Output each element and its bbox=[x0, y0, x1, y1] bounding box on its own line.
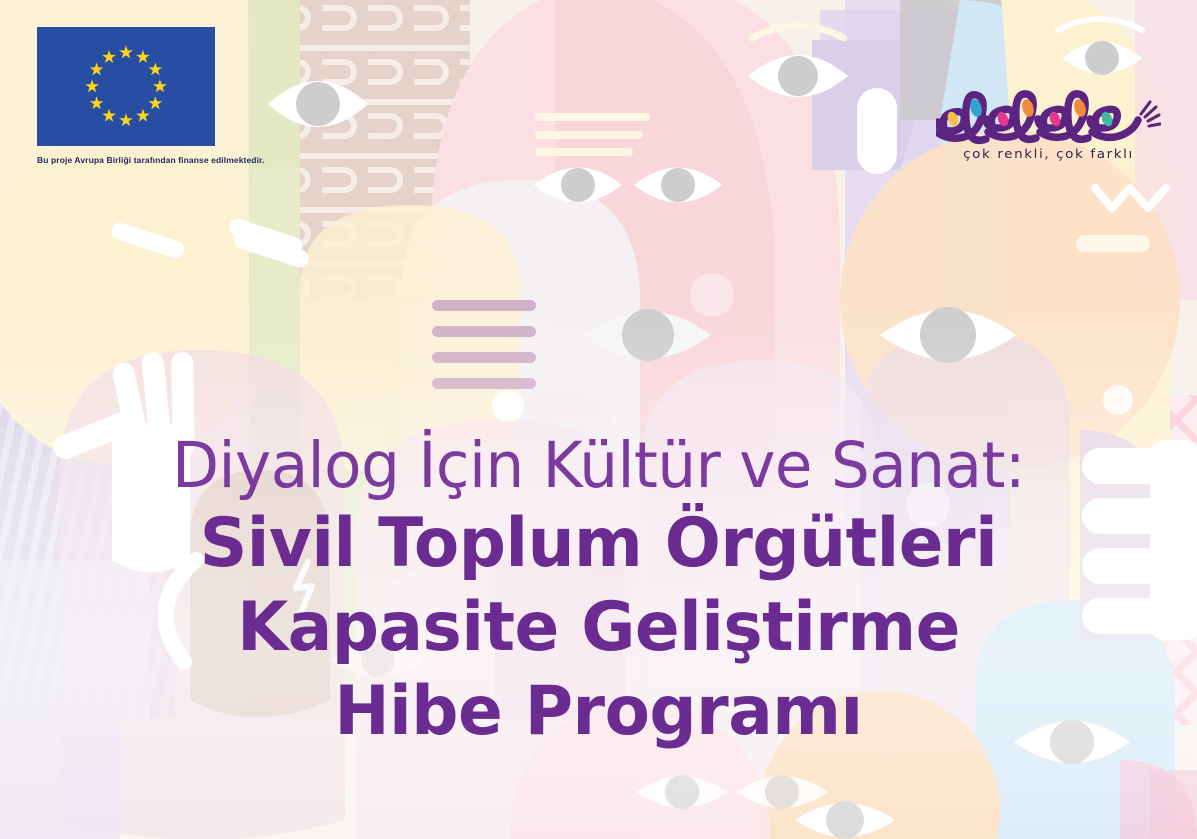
eu-star bbox=[119, 45, 133, 58]
eu-star bbox=[102, 50, 116, 63]
eu-star bbox=[90, 96, 104, 109]
eu-star bbox=[136, 50, 150, 63]
eu-star bbox=[102, 109, 116, 122]
elele-wordmark-icon bbox=[936, 86, 1161, 148]
poster-root: Bu proje Avrupa Birliği tarafından finan… bbox=[0, 0, 1197, 839]
title-line-3: Kapasite Geliştirme bbox=[18, 586, 1179, 670]
elele-tagline: çok renkli, çok farklı bbox=[936, 146, 1161, 161]
european-union-flag-icon bbox=[37, 27, 215, 146]
eu-star bbox=[153, 79, 167, 92]
eu-funding-block: Bu proje Avrupa Birliği tarafından finan… bbox=[37, 27, 267, 165]
eu-star bbox=[149, 62, 163, 75]
elele-hand-flourish-icon bbox=[1141, 102, 1160, 126]
eu-star bbox=[136, 109, 150, 122]
eu-funding-caption: Bu proje Avrupa Birliği tarafından finan… bbox=[37, 155, 267, 165]
eu-star bbox=[90, 62, 104, 75]
title-line-1: Diyalog İçin Kültür ve Sanat: bbox=[18, 430, 1179, 502]
page-title: Diyalog İçin Kültür ve Sanat: Sivil Topl… bbox=[0, 430, 1197, 754]
elele-logo: çok renkli, çok farklı bbox=[936, 86, 1161, 162]
title-line-4: Hibe Programı bbox=[18, 670, 1179, 754]
title-line-2: Sivil Toplum Örgütleri bbox=[18, 502, 1179, 586]
eu-star bbox=[119, 113, 133, 126]
eu-star bbox=[85, 79, 99, 92]
eu-star bbox=[149, 96, 163, 109]
